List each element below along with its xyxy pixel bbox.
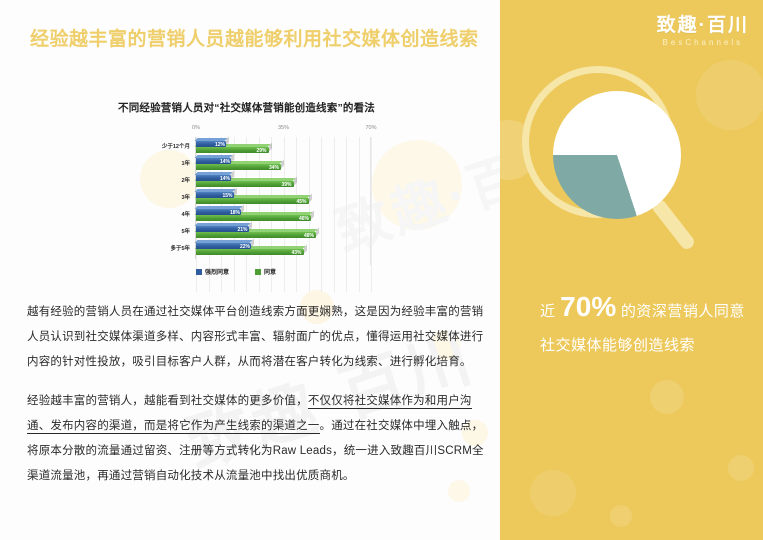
bar-value-label: 14% bbox=[220, 159, 230, 165]
x-tick-label: 70% bbox=[365, 125, 376, 131]
body-text-block: 越有经验的营销人员在通过社交媒体平台创造线索方面更娴熟，这是因为经验丰富的营销人… bbox=[27, 300, 491, 489]
bar-row-strongly-agree: 14% bbox=[196, 175, 371, 188]
bar-value-label: 21% bbox=[237, 227, 247, 233]
logo-english-text: BesChannels bbox=[657, 38, 749, 47]
decorative-circle bbox=[530, 470, 576, 516]
y-axis-label: 4年 bbox=[181, 210, 190, 218]
bar-value-label: 15% bbox=[222, 193, 232, 199]
brand-logo: 致趣·百川 BesChannels bbox=[657, 10, 749, 47]
bar-side-face bbox=[249, 222, 252, 231]
bar-strongly-agree: 22% bbox=[196, 243, 251, 249]
bar-row-strongly-agree: 18% bbox=[196, 209, 371, 222]
legend-swatch bbox=[196, 269, 202, 275]
pie-chart-70-percent bbox=[553, 91, 681, 219]
paragraph-2: 经验越丰富的营销人，越能看到社交媒体的更多价值，不仅仅将社交媒体作为和用户沟通、… bbox=[27, 389, 491, 489]
chart-legend: 强烈同意同意 bbox=[196, 267, 276, 276]
bar-row-strongly-agree: 21% bbox=[196, 226, 371, 239]
callout-prefix: 近 bbox=[540, 303, 560, 320]
legend-swatch bbox=[255, 269, 261, 275]
bar-side-face bbox=[231, 154, 234, 163]
bar-row-strongly-agree: 22% bbox=[196, 243, 371, 256]
bar-strongly-agree: 14% bbox=[196, 175, 231, 181]
gridline bbox=[371, 137, 372, 292]
bar-side-face bbox=[251, 239, 254, 248]
page-headline: 经验越丰富的营销人员越能够利用社交媒体创造线索 bbox=[30, 25, 500, 55]
logo-chinese-text: 致趣·百川 bbox=[657, 10, 749, 37]
paragraph-2-part-a: 经验越丰富的营销人，越能看到社交媒体的更多价值， bbox=[27, 395, 308, 407]
bar-value-label: 14% bbox=[220, 176, 230, 182]
bar-strongly-agree: 15% bbox=[196, 192, 234, 198]
y-axis-label: 多于5年 bbox=[170, 244, 190, 252]
legend-item[interactable]: 同意 bbox=[255, 267, 276, 276]
bar-side-face bbox=[241, 205, 244, 214]
bar-strongly-agree: 18% bbox=[196, 209, 241, 215]
chart-title: 不同经验营销人员对“社交媒体营销能创造线索”的看法 bbox=[118, 100, 408, 115]
x-tick-label: 35% bbox=[278, 125, 289, 131]
legend-item[interactable]: 强烈同意 bbox=[196, 267, 229, 276]
bar-value-label: 22% bbox=[240, 244, 250, 250]
y-axis-label: 2年 bbox=[181, 176, 190, 184]
callout-percent: 70% bbox=[560, 291, 616, 322]
paragraph-1: 越有经验的营销人员在通过社交媒体平台创造线索方面更娴熟，这是因为经验丰富的营销人… bbox=[27, 300, 491, 375]
bar-side-face bbox=[231, 171, 234, 180]
decorative-circle bbox=[728, 455, 754, 481]
y-axis-category-labels: 少于12个月1年2年3年4年5年多于5年 bbox=[118, 137, 192, 259]
bar-strongly-agree: 12% bbox=[196, 141, 226, 147]
y-axis-label: 5年 bbox=[181, 227, 190, 235]
chart-plot-area: 0%35%70% 少于12个月1年2年3年4年5年多于5年 29%12%34%1… bbox=[118, 137, 408, 292]
x-axis-tick-labels: 0%35%70% bbox=[118, 125, 408, 137]
bar-value-label: 18% bbox=[230, 210, 240, 216]
bar-value-label: 12% bbox=[215, 142, 225, 148]
infographic-page: 致趣·百川 致趣·百川 近 70% 的资深营销人同意社交媒体能够创造线索 致趣·… bbox=[0, 0, 763, 540]
bar-side-face bbox=[226, 137, 229, 146]
y-axis-label: 1年 bbox=[181, 159, 190, 167]
bar-strongly-agree: 14% bbox=[196, 158, 231, 164]
bar-row-strongly-agree: 12% bbox=[196, 141, 371, 154]
bar-side-face bbox=[234, 188, 237, 197]
magnifier-handle bbox=[650, 197, 697, 251]
bar-row-strongly-agree: 14% bbox=[196, 158, 371, 171]
decorative-circle bbox=[650, 380, 684, 414]
decorative-circle bbox=[696, 60, 763, 130]
callout-statistic: 近 70% 的资深营销人同意社交媒体能够创造线索 bbox=[540, 290, 750, 363]
chart-container: 不同经验营销人员对“社交媒体营销能创造线索”的看法 0%35%70% 少于12个… bbox=[118, 100, 408, 295]
bar-strongly-agree: 21% bbox=[196, 226, 249, 232]
decorative-circle bbox=[610, 505, 632, 527]
bar-row-strongly-agree: 15% bbox=[196, 192, 371, 205]
x-tick-label: 0% bbox=[192, 125, 200, 131]
y-axis-label: 3年 bbox=[181, 193, 190, 201]
magnifier-ring bbox=[522, 66, 674, 218]
magnifier-illustration bbox=[510, 60, 690, 260]
y-axis-label: 少于12个月 bbox=[162, 142, 190, 150]
legend-label: 强烈同意 bbox=[205, 267, 229, 276]
legend-label: 同意 bbox=[264, 267, 276, 276]
